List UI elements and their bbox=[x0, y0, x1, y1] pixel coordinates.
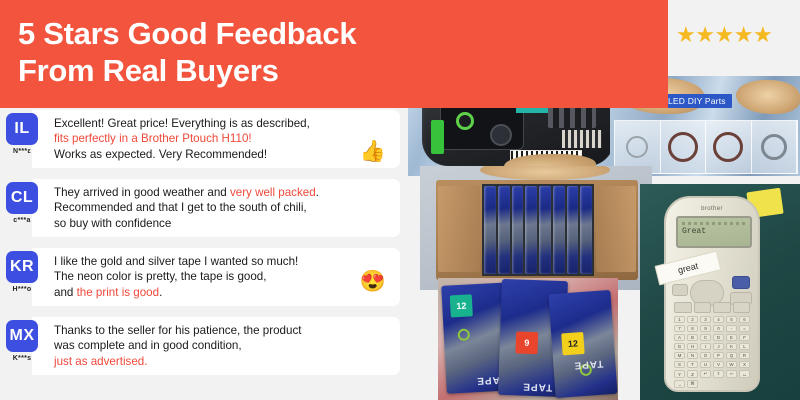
cassette-spool-icon bbox=[458, 328, 471, 341]
keypad-key[interactable]: Q bbox=[726, 352, 737, 359]
function-key-row[interactable] bbox=[674, 302, 750, 313]
keypad-key[interactable]: K bbox=[726, 343, 737, 350]
keypad-key[interactable]: J bbox=[713, 343, 724, 350]
reviews-list: ILN***εExcellent! Great price! Everythin… bbox=[0, 110, 400, 386]
wire-coil bbox=[761, 134, 787, 160]
keypad[interactable]: 1234567890-=ABCDEFGHIJKLMNOPQRSTUVWXYZ↵⇧… bbox=[674, 316, 750, 384]
keypad-key[interactable]: 2 bbox=[687, 316, 698, 323]
keypad-key[interactable]: 0 bbox=[713, 325, 724, 332]
reviewer-identity: CLc***a bbox=[0, 179, 44, 224]
wire-coil bbox=[713, 132, 743, 162]
avatar: MX bbox=[6, 320, 38, 352]
keypad-key[interactable]: N bbox=[687, 352, 698, 359]
cartridge-pack bbox=[567, 186, 579, 274]
cartridge-pack bbox=[580, 186, 592, 274]
carton-flap-right bbox=[596, 186, 636, 272]
label-maker-body: brother Great 1234567890-=ABCDEFGHIJKLMN… bbox=[664, 196, 760, 392]
avatar: CL bbox=[6, 182, 38, 214]
cartridge-pack bbox=[525, 186, 537, 274]
review-item: KRH***oI like the gold and silver tape I… bbox=[0, 248, 400, 310]
keypad-key[interactable]: M bbox=[674, 352, 685, 359]
review-bubble: Excellent! Great price! Everything is as… bbox=[32, 110, 400, 168]
page-title: 5 Stars Good Feedback From Real Buyers bbox=[18, 16, 638, 89]
lcd-status-row bbox=[682, 222, 746, 225]
keypad-key[interactable]: ⇧ bbox=[713, 370, 724, 378]
cartridge-pack bbox=[484, 186, 496, 274]
keypad-key[interactable]: B bbox=[687, 334, 698, 341]
reviewer-username: c***a bbox=[13, 217, 30, 224]
keypad-key[interactable]: I bbox=[700, 343, 711, 350]
review-bubble: I like the gold and silver tape I wanted… bbox=[32, 248, 400, 306]
keypad-key[interactable]: ␣ bbox=[739, 370, 750, 378]
keypad-key[interactable]: W bbox=[726, 361, 737, 368]
review-bubble: They arrived in good weather and very we… bbox=[32, 179, 400, 237]
tray-compartment bbox=[706, 121, 752, 173]
keypad-key[interactable]: 4 bbox=[713, 316, 724, 323]
keypad-key[interactable]: ↵ bbox=[700, 370, 711, 378]
review-text: Thanks to the seller for his patience, t… bbox=[54, 323, 301, 369]
keypad-key[interactable]: P bbox=[713, 352, 724, 359]
packet-size-tag: 12 bbox=[450, 294, 473, 317]
avatar: IL bbox=[6, 113, 38, 145]
tray-compartment bbox=[661, 121, 707, 173]
keypad-key[interactable]: V bbox=[713, 361, 724, 368]
keypad-key[interactable]: 9 bbox=[700, 325, 711, 332]
printed-label-text: great bbox=[677, 261, 699, 276]
keypad-key[interactable]: U bbox=[700, 361, 711, 368]
keypad-key[interactable]: 6 bbox=[739, 316, 750, 323]
keypad-key[interactable]: A bbox=[674, 334, 685, 341]
packet-size-tag: 12 bbox=[561, 332, 584, 355]
heart-eyes-emoji: 😍 bbox=[360, 271, 386, 292]
keypad-key[interactable]: E bbox=[726, 334, 737, 341]
cardboard-carton bbox=[436, 180, 638, 280]
cartridge-pack bbox=[498, 186, 510, 274]
function-key[interactable] bbox=[674, 302, 692, 313]
tray-compartment bbox=[752, 121, 798, 173]
keypad-key[interactable]: ⇦ bbox=[726, 370, 737, 378]
keypad-key[interactable]: D bbox=[713, 334, 724, 341]
review-text: They arrived in good weather and very we… bbox=[54, 185, 319, 231]
wire-coil bbox=[626, 136, 648, 158]
keypad-key[interactable]: → bbox=[674, 380, 685, 388]
tape-packet: 12 TAPE bbox=[548, 290, 617, 398]
keypad-key[interactable]: 8 bbox=[687, 325, 698, 332]
carton-interior bbox=[482, 184, 594, 276]
reviewer-username: H***o bbox=[12, 286, 31, 293]
keypad-key[interactable]: C bbox=[700, 334, 711, 341]
cartridge-pack bbox=[512, 186, 524, 274]
star-rating: ★★★★★ bbox=[676, 24, 772, 46]
keypad-key[interactable]: Y bbox=[674, 370, 685, 378]
keypad-key[interactable]: = bbox=[739, 325, 750, 332]
keypad-key[interactable]: G bbox=[674, 343, 685, 350]
green-release-tab bbox=[431, 120, 444, 154]
header-banner: 5 Stars Good Feedback From Real Buyers bbox=[0, 0, 668, 108]
brother-brand-logo: brother bbox=[666, 206, 758, 212]
review-text: I like the gold and silver tape I wanted… bbox=[54, 254, 298, 300]
power-button[interactable] bbox=[672, 284, 688, 296]
brother-label-maker-photo: brother Great 1234567890-=ABCDEFGHIJKLMN… bbox=[640, 184, 800, 400]
lcd-text: Great bbox=[682, 227, 706, 236]
cartridge-pack bbox=[553, 186, 565, 274]
keypad-key[interactable]: S bbox=[674, 361, 685, 368]
keypad-key[interactable]: H bbox=[687, 343, 698, 350]
keypad-key[interactable]: 1 bbox=[674, 316, 685, 323]
shipping-box-of-cartridges-photo bbox=[420, 166, 652, 290]
keypad-key[interactable]: F bbox=[739, 334, 750, 341]
keypad-key[interactable]: 5 bbox=[726, 316, 737, 323]
keypad-key[interactable]: X bbox=[739, 361, 750, 368]
keypad-key[interactable]: 7 bbox=[674, 325, 685, 332]
avatar: KR bbox=[6, 251, 38, 283]
review-item: MXK***sThanks to the seller for his pati… bbox=[0, 317, 400, 379]
keypad-key[interactable]: Z bbox=[687, 370, 698, 378]
function-key[interactable] bbox=[733, 302, 751, 313]
reviewer-username: K***s bbox=[13, 355, 32, 362]
keypad-key[interactable]: O bbox=[700, 352, 711, 359]
review-text: Excellent! Great price! Everything is as… bbox=[54, 116, 310, 162]
keypad-key[interactable]: 3 bbox=[700, 316, 711, 323]
keypad-key[interactable]: - bbox=[726, 325, 737, 332]
review-item: ILN***εExcellent! Great price! Everythin… bbox=[0, 110, 400, 172]
review-item: CLc***aThey arrived in good weather and … bbox=[0, 179, 400, 241]
reviewer-identity: KRH***o bbox=[0, 248, 44, 293]
slot-grille bbox=[562, 130, 602, 148]
review-bubble: Thanks to the seller for his patience, t… bbox=[32, 317, 400, 375]
star-icon: ★ bbox=[676, 24, 695, 46]
feedback-infographic: LED DIY Parts bbox=[0, 0, 800, 400]
keypad-key[interactable]: T bbox=[687, 361, 698, 368]
packet-size-tag: 9 bbox=[515, 331, 538, 354]
reviewer-identity: ILN***ε bbox=[0, 110, 44, 155]
wire-coil bbox=[668, 132, 698, 162]
cartridge-pack bbox=[539, 186, 551, 274]
green-gear-icon bbox=[456, 112, 474, 130]
lcd-screen: Great bbox=[676, 216, 752, 248]
star-icon: ★ bbox=[714, 24, 733, 46]
packet-word: TAPE bbox=[573, 358, 604, 371]
print-button[interactable] bbox=[732, 276, 750, 289]
function-key[interactable] bbox=[694, 302, 712, 313]
star-icon: ★ bbox=[695, 24, 714, 46]
led-diy-parts-label: LED DIY Parts bbox=[662, 94, 732, 108]
tape-packets-photo: 12 TAPE 9 TAPE 12 TAPE bbox=[438, 278, 618, 400]
keypad-key[interactable]: L bbox=[739, 343, 750, 350]
roller-wheel bbox=[490, 124, 512, 146]
reviewer-username: N***ε bbox=[13, 148, 31, 155]
thumbs-up-emoji: 👍 bbox=[360, 141, 386, 162]
star-icon: ★ bbox=[734, 24, 753, 46]
star-icon: ★ bbox=[753, 24, 772, 46]
keypad-key[interactable]: ⌘ bbox=[687, 380, 698, 388]
reviewer-identity: MXK***s bbox=[0, 317, 44, 362]
packet-word: TAPE bbox=[522, 381, 552, 393]
carton-flap-left bbox=[438, 186, 480, 272]
keypad-key[interactable]: R bbox=[739, 352, 750, 359]
cartridge-pack-row bbox=[484, 186, 592, 274]
function-key[interactable] bbox=[713, 302, 731, 313]
